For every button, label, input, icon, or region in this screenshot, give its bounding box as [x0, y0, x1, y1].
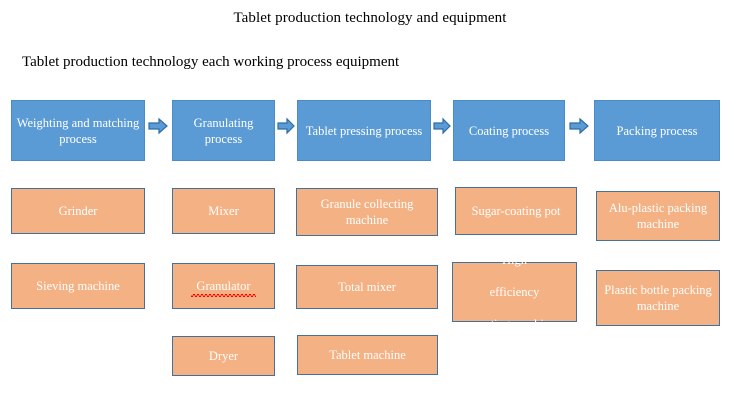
equipment-box-tablet-machine[interactable]: Tablet machine	[297, 335, 438, 375]
equipment-box-grinder[interactable]: Grinder	[11, 188, 145, 234]
flow-arrow-3-icon	[433, 117, 451, 135]
equipment-label-line2: coating machine	[469, 316, 559, 332]
process-label: Tablet pressing process	[302, 123, 426, 139]
equipment-label: High efficiencycoating machine	[465, 252, 563, 332]
equipment-label: Dryer	[205, 348, 242, 364]
equipment-label: Grinder	[55, 203, 102, 219]
process-box-granulating[interactable]: Granulating process	[172, 100, 275, 161]
equipment-label: Total mixer	[334, 279, 400, 295]
equipment-box-high-efficiency-coating-machine[interactable]: High efficiencycoating machine	[452, 262, 577, 322]
process-box-tablet-pressing[interactable]: Tablet pressing process	[297, 100, 431, 161]
equipment-box-sieving-machine[interactable]: Sieving machine	[11, 263, 145, 309]
flow-arrow-2-icon	[277, 117, 295, 135]
flowchart-canvas: Tablet production technology and equipme…	[0, 0, 740, 419]
process-label: Packing process	[613, 123, 702, 139]
equipment-box-plastic-bottle-packing-machine[interactable]: Plastic bottle packing machine	[596, 270, 720, 326]
process-label: Weighting and matching process	[12, 115, 144, 147]
equipment-box-total-mixer[interactable]: Total mixer	[296, 265, 438, 309]
equipment-box-alu-plastic-packing-machine[interactable]: Alu-plastic packing machine	[596, 191, 720, 241]
process-box-packing[interactable]: Packing process	[594, 100, 720, 161]
equipment-box-dryer[interactable]: Dryer	[172, 336, 275, 376]
equipment-label: Sieving machine	[32, 278, 124, 294]
equipment-label-misspelled: Granulator	[192, 278, 254, 294]
equipment-label-line1-word2: efficiency	[469, 284, 559, 300]
equipment-label: Sugar-coating pot	[468, 203, 565, 219]
process-box-weighting-and-matching[interactable]: Weighting and matching process	[11, 100, 145, 161]
page-subtitle: Tablet production technology each workin…	[22, 52, 399, 72]
process-label: Granulating process	[173, 115, 274, 147]
equipment-label: Granule collecting machine	[297, 196, 437, 228]
flow-arrow-4-icon	[569, 117, 589, 135]
process-box-coating[interactable]: Coating process	[453, 100, 565, 161]
flow-arrow-1-icon	[148, 117, 168, 135]
equipment-label: Mixer	[204, 203, 243, 219]
equipment-box-sugar-coating-pot[interactable]: Sugar-coating pot	[455, 187, 577, 235]
equipment-label: Alu-plastic packing machine	[597, 200, 719, 232]
equipment-box-granulator[interactable]: Granulator	[172, 263, 275, 309]
equipment-label: Tablet machine	[325, 347, 410, 363]
equipment-label: Plastic bottle packing machine	[597, 282, 719, 314]
equipment-label-line1-word1: High	[469, 252, 559, 268]
equipment-box-mixer[interactable]: Mixer	[172, 188, 275, 234]
equipment-box-granule-collecting-machine[interactable]: Granule collecting machine	[296, 188, 438, 236]
page-title: Tablet production technology and equipme…	[0, 8, 740, 28]
process-label: Coating process	[465, 123, 553, 139]
